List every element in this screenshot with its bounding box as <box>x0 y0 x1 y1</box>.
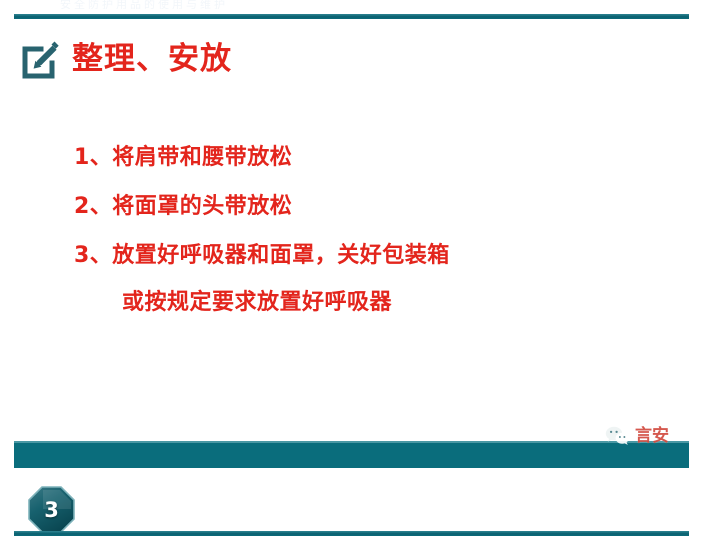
bottom-teal-band <box>14 441 689 468</box>
page-number: 3 <box>28 486 75 533</box>
body-line: 1、将肩带和腰带放松 <box>74 133 654 182</box>
edit-pen-icon <box>18 38 60 80</box>
page-title: 整理、安放 <box>72 44 232 75</box>
body-line: 3、放置好呼吸器和面罩，关好包装箱 <box>74 231 654 280</box>
watermark-text: 言安 <box>635 428 669 445</box>
slide-header: 整理、安放 <box>18 38 232 80</box>
bottom-rule <box>14 531 689 536</box>
page-number-badge: 3 <box>28 486 75 533</box>
slide-canvas: 安全防护用品的使用与维护 整理、安放 1、将肩带和腰带放松 2、将面罩的头带放松… <box>0 0 703 548</box>
wechat-icon <box>604 424 632 448</box>
body-content: 1、将肩带和腰带放松 2、将面罩的头带放松 3、放置好呼吸器和面罩，关好包装箱 … <box>74 133 654 326</box>
top-ghost-text: 安全防护用品的使用与维护 <box>60 0 480 9</box>
watermark: 言安 <box>604 424 669 448</box>
body-line: 2、将面罩的头带放松 <box>74 182 654 231</box>
body-line: 或按规定要求放置好呼吸器 <box>74 280 654 326</box>
top-rule <box>14 14 689 19</box>
